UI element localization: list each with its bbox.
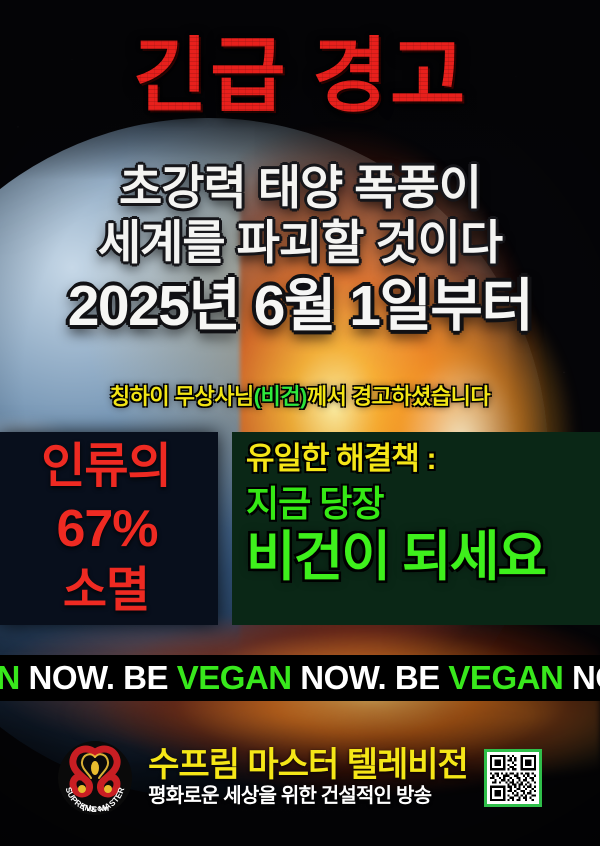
alert-title: 긴급 경고 [0,36,600,118]
headline-line-3: 2025년 6월 1일부터 [0,273,600,339]
stat-line-3: 소멸 [0,567,221,615]
ticker-vegan-2: VEGAN [177,659,292,696]
solution-line-1: 지금 당장 [246,484,600,524]
headline-line-2: 세계를 파괴할 것이다 [0,215,600,270]
attribution-vegan-tag: (비건) [254,384,307,409]
ticker-now-be-2: NOW. BE [300,659,440,696]
ticker-space-2 [292,659,301,696]
brand-text-block: 수프림 마스터 텔레비전 평화로운 세상을 위한 건설적인 방송 [148,748,468,809]
alert-title-text: 긴급 경고 [133,31,468,122]
svg-text:TV.com: TV.com [81,804,109,813]
attribution-line: 칭하이 무상사님(비건)께서 경고하셨습니다 [0,379,600,411]
attribution-suffix: 께서 경고하셨습니다 [307,384,490,409]
vegan-ticker-bar: GAN NOW. BE VEGAN NOW. BE VEGAN NOW. BE … [0,655,600,701]
qr-code[interactable] [484,749,542,807]
ticker-text: GAN NOW. BE VEGAN NOW. BE VEGAN NOW. BE … [0,659,600,697]
brand-tagline: 평화로운 세상을 위한 건설적인 방송 [148,784,468,808]
supreme-master-tv-logo[interactable]: SUPREME MASTER TV.com [58,741,132,815]
footer-bar: SUPREME MASTER TV.com 수프림 마스터 텔레비전 평화로운 … [0,701,600,846]
ticker-space-4 [563,659,572,696]
headline-line-1: 초강력 태양 폭풍이 [0,160,600,215]
solution-panel: 유일한 해결책 : 지금 당장 비건이 되세요 [232,432,600,625]
ticker-vegan-3: VEGAN [448,659,563,696]
ticker-vegan-partial: GAN [0,659,20,696]
brand-name: 수프림 마스터 텔레비전 [148,748,468,784]
ticker-now-be-3: NOW. BE [572,659,600,696]
poster-content: 긴급 경고 초강력 태양 폭풍이 세계를 파괴할 것이다 2025년 6월 1일… [0,0,600,846]
solution-line-2: 비건이 되세요 [246,528,600,587]
footer-row: SUPREME MASTER TV.com 수프림 마스터 텔레비전 평화로운 … [0,739,600,817]
stat-solution-band: 인류의 67% 소멸 유일한 해결책 : 지금 당장 비건이 되세요 [0,432,600,625]
attribution-prefix: 칭하이 무상사님 [110,384,254,409]
ticker-space-1 [168,659,177,696]
ticker-now-be-1 [20,659,29,696]
stat-line-1: 인류의 [0,443,221,491]
ticker-now-be-1b: NOW. BE [29,659,169,696]
poster-root: 긴급 경고 초강력 태양 폭풍이 세계를 파괴할 것이다 2025년 6월 1일… [0,0,600,846]
headline-block: 초강력 태양 폭풍이 세계를 파괴할 것이다 2025년 6월 1일부터 [0,160,600,339]
humanity-stat-panel: 인류의 67% 소멸 [0,432,218,625]
solution-heading: 유일한 해결책 : [246,442,600,476]
stat-percentage: 67% [0,503,220,555]
